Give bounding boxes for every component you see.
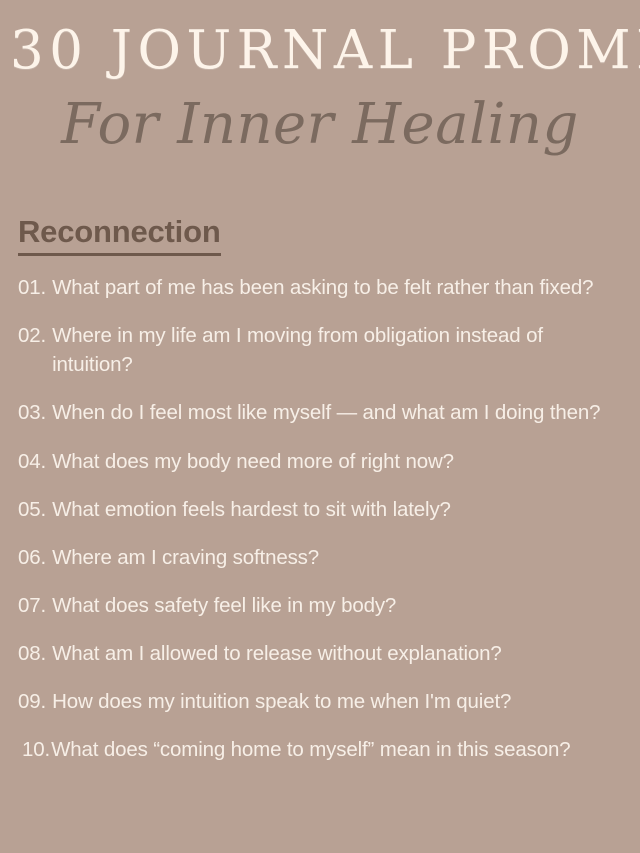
prompt-number: 02. — [18, 321, 46, 350]
prompt-number: 10. — [22, 735, 50, 764]
list-item: 07. What does safety feel like in my bod… — [18, 591, 624, 620]
prompt-text: What does safety feel like in my body? — [52, 591, 624, 620]
list-item: 06. Where am I craving softness? — [18, 543, 624, 572]
prompt-number: 07. — [18, 591, 46, 620]
list-item: 08. What am I allowed to release without… — [18, 639, 624, 668]
poster-header: 30 JOURNAL PROMPTS For Inner Healing — [0, 0, 640, 153]
prompt-number: 05. — [18, 495, 46, 524]
prompt-text: What emotion feels hardest to sit with l… — [52, 495, 624, 524]
prompt-number: 09. — [18, 687, 46, 716]
list-item: 03. When do I feel most like myself — an… — [18, 398, 624, 427]
prompt-number: 06. — [18, 543, 46, 572]
list-item: 02. Where in my life am I moving from ob… — [18, 321, 624, 379]
prompt-text: What does my body need more of right now… — [52, 447, 624, 476]
prompt-number: 04. — [18, 447, 46, 476]
list-item: 09. How does my intuition speak to me wh… — [18, 687, 624, 716]
prompt-number: 08. — [18, 639, 46, 668]
page-subtitle: For Inner Healing — [0, 97, 640, 153]
section-heading: Reconnection — [18, 215, 221, 256]
prompt-text: Where in my life am I moving from obliga… — [52, 321, 624, 379]
prompt-text: How does my intuition speak to me when I… — [52, 687, 624, 716]
list-item: 01. What part of me has been asking to b… — [18, 273, 624, 302]
prompt-list: 01. What part of me has been asking to b… — [18, 273, 624, 764]
prompt-number: 03. — [18, 398, 46, 427]
list-item: 10. What does “coming home to myself” me… — [18, 735, 624, 764]
prompt-text: What does “coming home to myself” mean i… — [51, 735, 624, 764]
list-item: 05. What emotion feels hardest to sit wi… — [18, 495, 624, 524]
section-reconnection: Reconnection 01. What part of me has bee… — [0, 215, 640, 764]
prompt-text: What am I allowed to release without exp… — [52, 639, 624, 668]
prompt-number: 01. — [18, 273, 46, 302]
prompt-text: Where am I craving softness? — [52, 543, 624, 572]
prompt-text: What part of me has been asking to be fe… — [52, 273, 624, 302]
journal-prompts-poster: 30 JOURNAL PROMPTS For Inner Healing Rec… — [0, 0, 640, 853]
page-title: 30 JOURNAL PROMPTS — [0, 24, 640, 77]
prompt-text: When do I feel most like myself — and wh… — [52, 398, 624, 427]
list-item: 04. What does my body need more of right… — [18, 447, 624, 476]
